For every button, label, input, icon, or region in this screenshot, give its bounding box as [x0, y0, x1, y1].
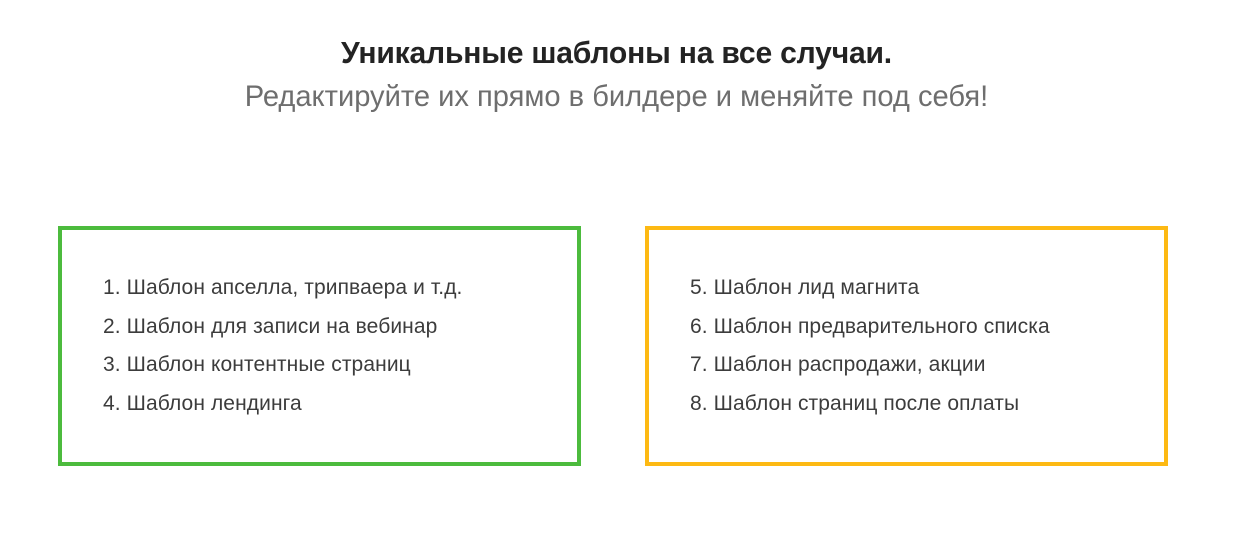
page-title: Уникальные шаблоны на все случаи.	[18, 34, 1214, 72]
template-card-left: 1. Шаблон апселла, трипваера и т.д. 2. Ш…	[58, 226, 581, 466]
list-item: 2. Шаблон для записи на вебинар	[103, 308, 463, 347]
list-item: 6. Шаблон предварительного списка	[690, 308, 1050, 347]
template-list-left: 1. Шаблон апселла, трипваера и т.д. 2. Ш…	[103, 269, 463, 423]
header-section: Уникальные шаблоны на все случаи. Редакт…	[0, 34, 1233, 116]
page-subtitle: Редактируйте их прямо в билдере и меняйт…	[18, 78, 1214, 116]
list-item: 5. Шаблон лид магнита	[690, 269, 1050, 308]
page-root: Уникальные шаблоны на все случаи. Редакт…	[0, 0, 1233, 540]
list-item: 1. Шаблон апселла, трипваера и т.д.	[103, 269, 463, 308]
template-card-right: 5. Шаблон лид магнита 6. Шаблон предвари…	[645, 226, 1168, 466]
list-item: 7. Шаблон распродажи, акции	[690, 346, 1050, 385]
list-item: 8. Шаблон страниц после оплаты	[690, 385, 1050, 424]
template-list-right: 5. Шаблон лид магнита 6. Шаблон предвари…	[690, 269, 1050, 423]
list-item: 3. Шаблон контентные страниц	[103, 346, 463, 385]
template-cards-container: 1. Шаблон апселла, трипваера и т.д. 2. Ш…	[0, 226, 1233, 470]
list-item: 4. Шаблон лендинга	[103, 385, 463, 424]
